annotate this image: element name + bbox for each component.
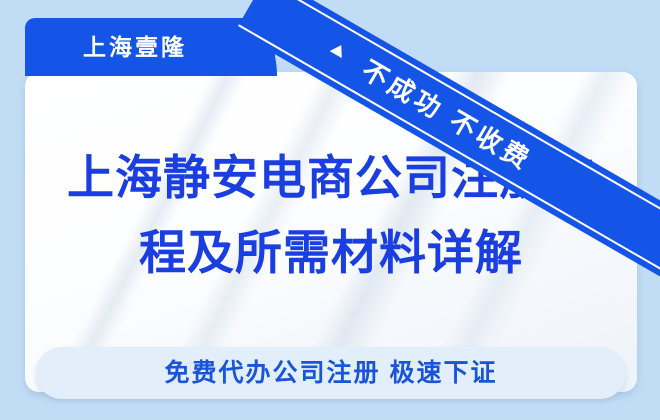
- company-tab-label: 上海壹隆: [25, 18, 245, 76]
- page-title-line-2: 程及所需材料详解: [25, 215, 637, 290]
- footer-pill[interactable]: 免费代办公司注册 极速下证: [36, 347, 626, 399]
- promo-banner: 上海壹隆 上海静安电商公司注册流 程及所需材料详解 免费代办公司注册 极速下证 …: [0, 0, 660, 420]
- footer-pill-label: 免费代办公司注册 极速下证: [36, 347, 626, 399]
